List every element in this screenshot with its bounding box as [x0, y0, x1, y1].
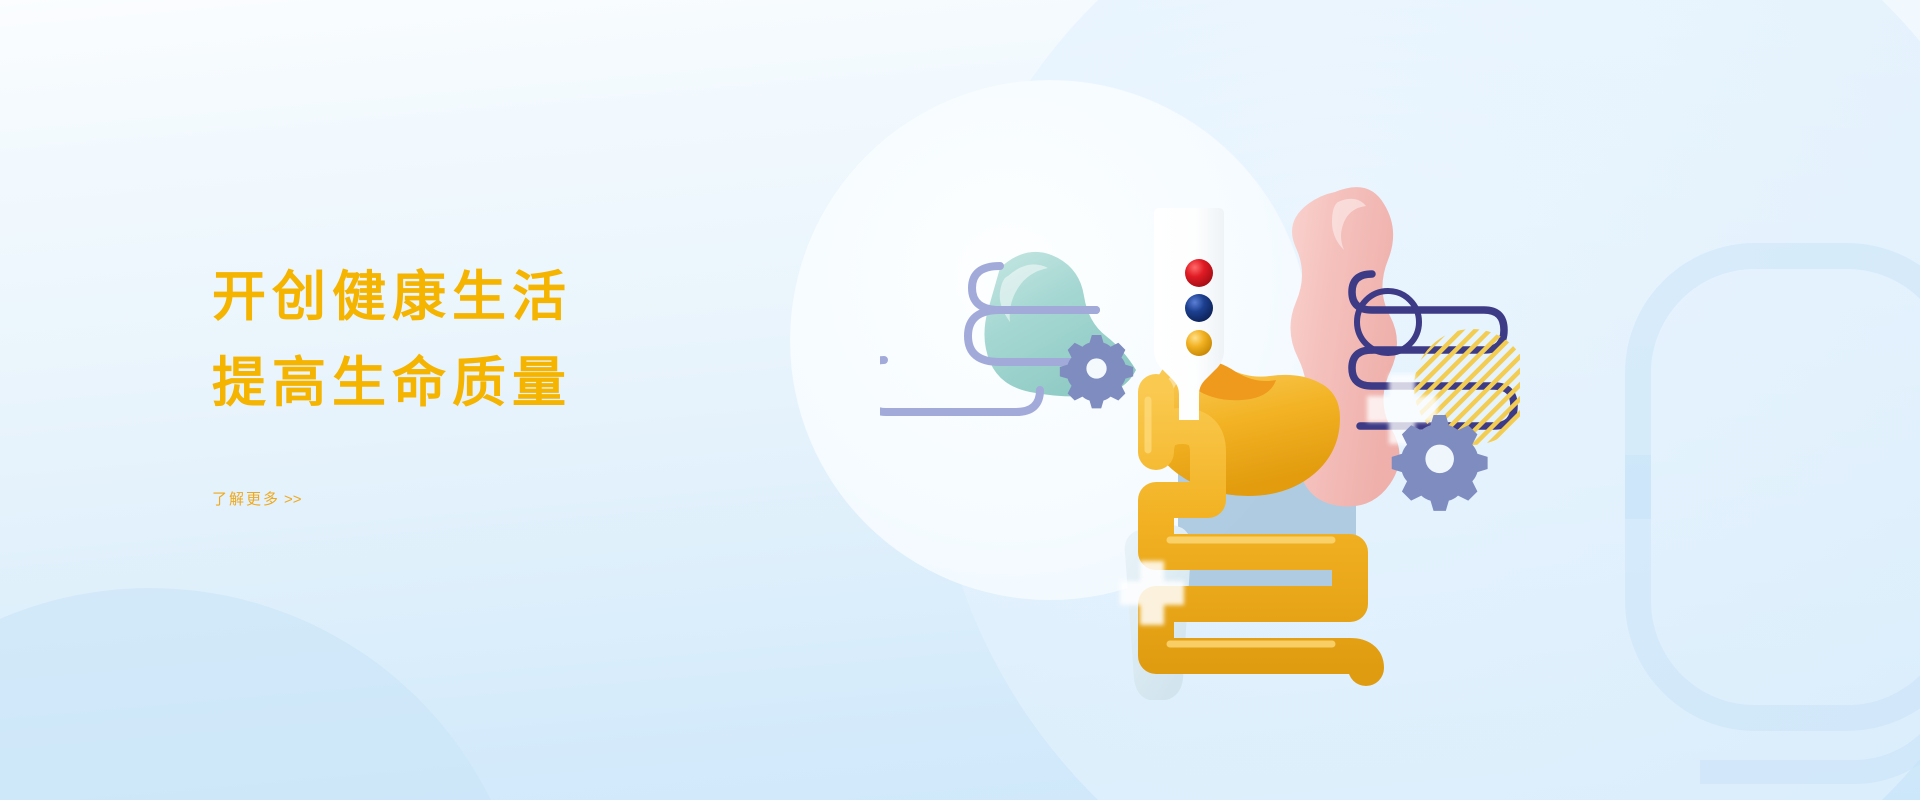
headline-line-1: 开创健康生活 [212, 254, 832, 340]
hero-banner: 开创健康生活 提高生命质量 了解更多>> [0, 0, 1920, 800]
headline-line-2: 提高生命质量 [212, 340, 832, 426]
learn-more-link[interactable]: 了解更多>> [212, 488, 302, 509]
hero-copy: 开创健康生活 提高生命质量 了解更多>> [212, 254, 832, 509]
digestive-system-illustration [880, 60, 1520, 700]
background-bottom-left-circle [0, 588, 530, 800]
learn-more-label: 了解更多 [212, 491, 280, 508]
background-ghost-coil-bottom [1700, 560, 1920, 784]
bead-red [1185, 259, 1213, 287]
chevron-right-icon: >> [284, 491, 302, 508]
bead-navy [1185, 294, 1213, 322]
bead-yellow [1186, 330, 1212, 356]
